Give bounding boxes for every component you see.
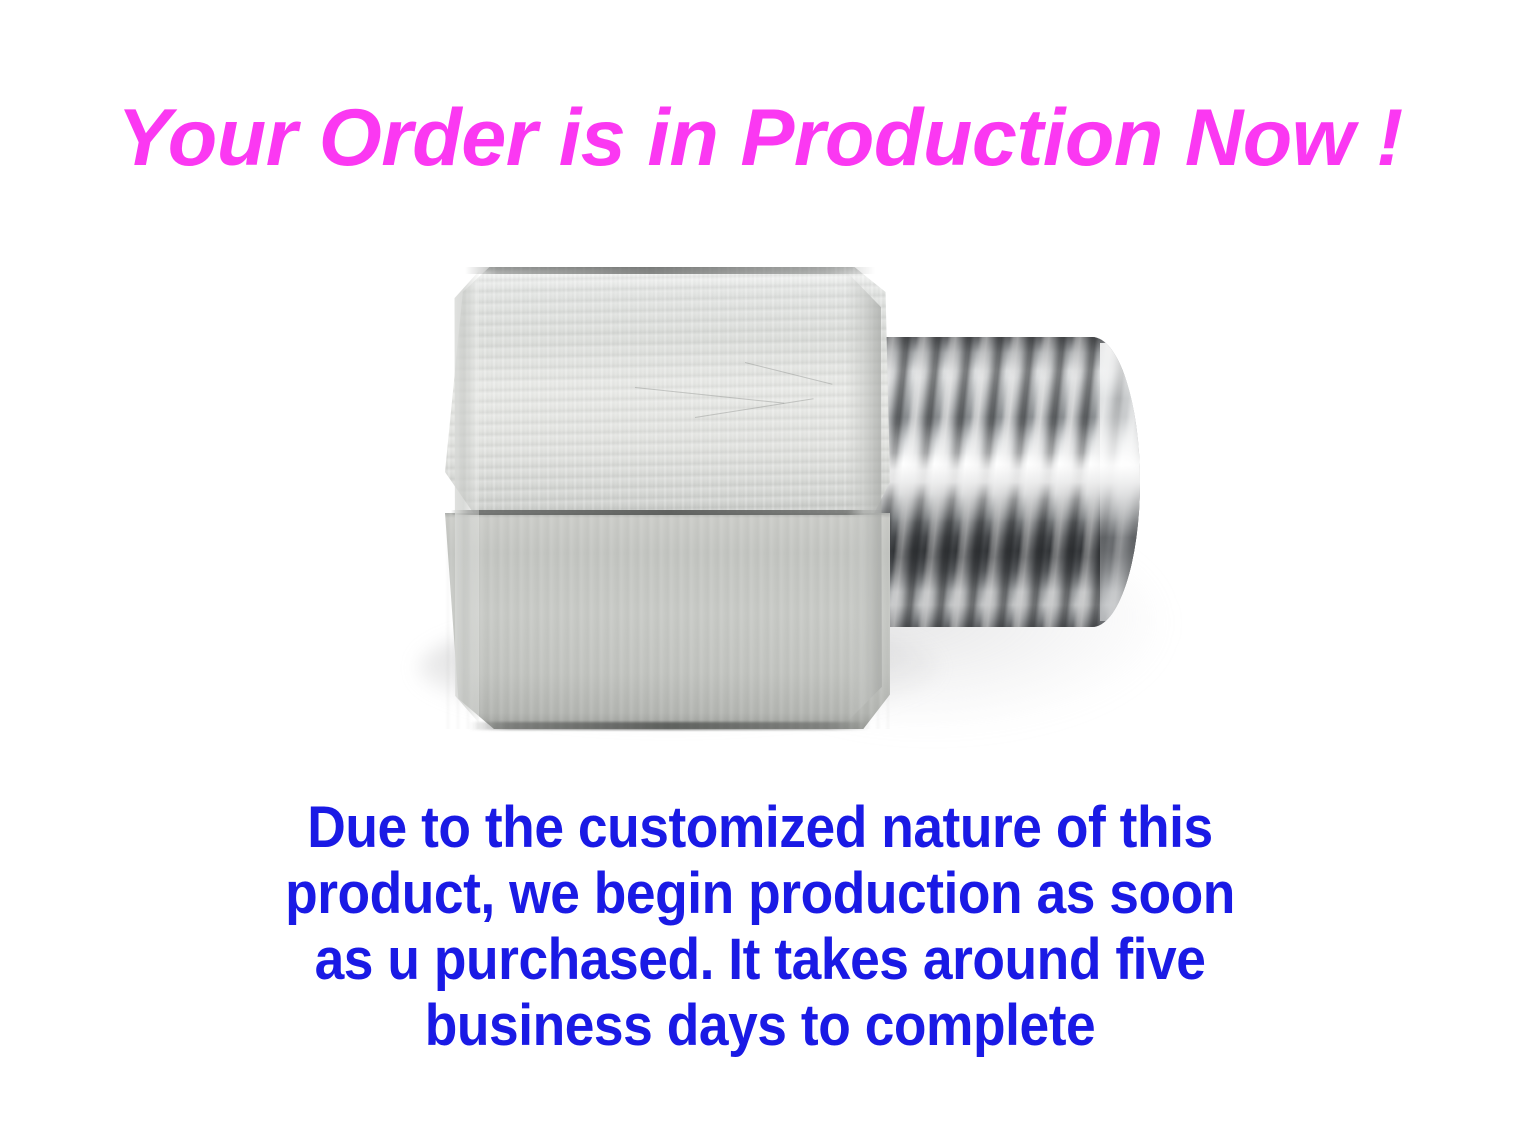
hex-chamfer-edge (451, 510, 886, 515)
promotional-banner: Your Order is in Production Now ! (0, 0, 1520, 1140)
caption-block: Due to the customized nature of this pro… (0, 795, 1520, 1059)
caption-line-1: Due to the customized nature of this (61, 795, 1459, 861)
caption-line-4: business days to complete (61, 993, 1459, 1059)
product-photo (300, 225, 1250, 785)
thread-cylinder (865, 337, 1140, 627)
thread-ridge-shadows (865, 337, 1140, 627)
page-title: Your Order is in Production Now ! (0, 96, 1520, 181)
hex-lower-striations (445, 513, 890, 729)
hex-face-upper (445, 267, 890, 517)
caption-line-2: product, we begin production as soon (61, 861, 1459, 927)
male-thread-section (865, 337, 1140, 627)
hex-bottom-edge-shadow (469, 722, 869, 730)
hex-body (445, 267, 890, 729)
hex-machining-striations-horizontal (445, 267, 890, 517)
caption-line-3: as u purchased. It takes around five (61, 927, 1459, 993)
hex-top-edge-highlight (465, 267, 875, 274)
